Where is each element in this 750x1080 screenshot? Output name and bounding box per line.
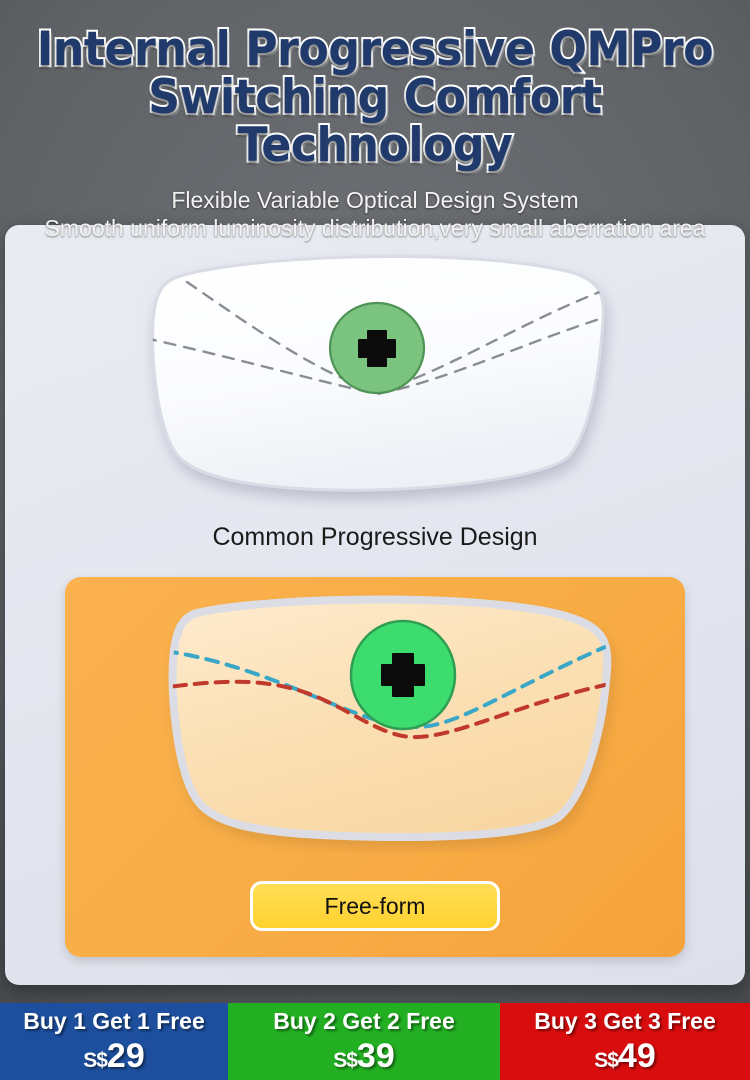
offer-label-2: Buy 2 Get 2 Free xyxy=(273,1010,455,1033)
price-value-1: 29 xyxy=(107,1039,145,1073)
subtitle-line-2: Smooth uniform luminosity distribution,v… xyxy=(0,214,750,242)
add-power-marker xyxy=(351,621,455,729)
page-title: Internal Progressive QMPro Switching Com… xyxy=(23,0,728,170)
header: Internal Progressive QMPro Switching Com… xyxy=(0,0,750,242)
currency-symbol-2: S$ xyxy=(333,1050,357,1071)
offer-price-1: S$29 xyxy=(83,1039,145,1073)
common-design-caption: Common Progressive Design xyxy=(5,523,745,552)
offer-tile-3[interactable]: Buy 3 Get 3 Free S$49 xyxy=(500,1003,750,1080)
offer-tile-1[interactable]: Buy 1 Get 1 Free S$29 xyxy=(0,1003,228,1080)
add-power-marker xyxy=(330,303,424,393)
currency-symbol-1: S$ xyxy=(83,1050,107,1071)
title-line-2: Switching Comfort Technology xyxy=(23,74,728,170)
free-form-lens-illustration xyxy=(105,585,645,853)
promo-page: Internal Progressive QMPro Switching Com… xyxy=(0,0,750,1080)
offer-price-2: S$39 xyxy=(333,1039,395,1073)
plus-icon-horizontal xyxy=(381,664,425,686)
common-progressive-lens-illustration xyxy=(5,230,745,510)
offer-price-3: S$49 xyxy=(594,1039,656,1073)
common-lens-svg xyxy=(5,230,745,510)
price-banner: Buy 1 Get 1 Free S$29 Buy 2 Get 2 Free S… xyxy=(0,1003,750,1080)
comparison-card: Common Progressive Design xyxy=(5,225,745,985)
subtitle-group: Flexible Variable Optical Design System … xyxy=(0,186,750,242)
free-form-button[interactable]: Free-form xyxy=(250,881,500,931)
price-value-2: 39 xyxy=(357,1039,395,1073)
plus-icon-horizontal xyxy=(358,339,396,358)
offer-tile-2[interactable]: Buy 2 Get 2 Free S$39 xyxy=(228,1003,500,1080)
offer-label-1: Buy 1 Get 1 Free xyxy=(23,1010,205,1033)
free-form-button-label: Free-form xyxy=(325,893,426,920)
subtitle-line-1: Flexible Variable Optical Design System xyxy=(0,186,750,214)
offer-label-3: Buy 3 Get 3 Free xyxy=(534,1010,716,1033)
title-line-1: Internal Progressive QMPro xyxy=(37,22,713,77)
price-value-3: 49 xyxy=(618,1039,656,1073)
currency-symbol-3: S$ xyxy=(594,1050,618,1071)
free-form-panel: Free-form xyxy=(65,577,685,957)
free-form-lens-svg xyxy=(105,585,645,853)
